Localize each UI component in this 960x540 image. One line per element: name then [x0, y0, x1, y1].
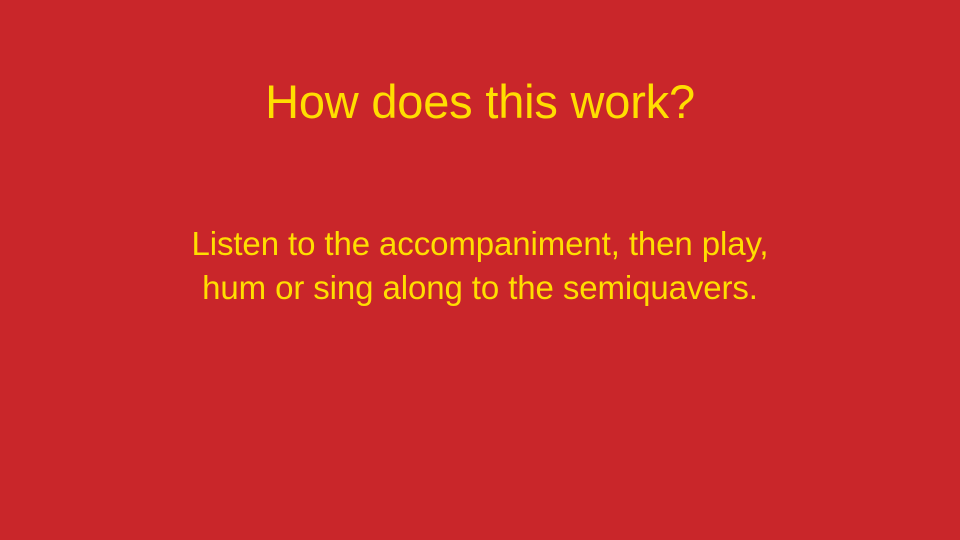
page-title: How does this work?: [60, 74, 900, 129]
slide-body-text: Listen to the accompaniment, then play, …: [70, 222, 890, 310]
slide-canvas: How does this work? Listen to the accomp…: [0, 0, 960, 540]
slide-body-placeholder[interactable]: Listen to the accompaniment, then play, …: [70, 222, 890, 310]
body-line-1: Listen to the accompaniment, then play,: [70, 222, 890, 266]
body-line-2: hum or sing along to the semiquavers.: [70, 266, 890, 310]
slide-title-placeholder[interactable]: How does this work?: [60, 74, 900, 129]
